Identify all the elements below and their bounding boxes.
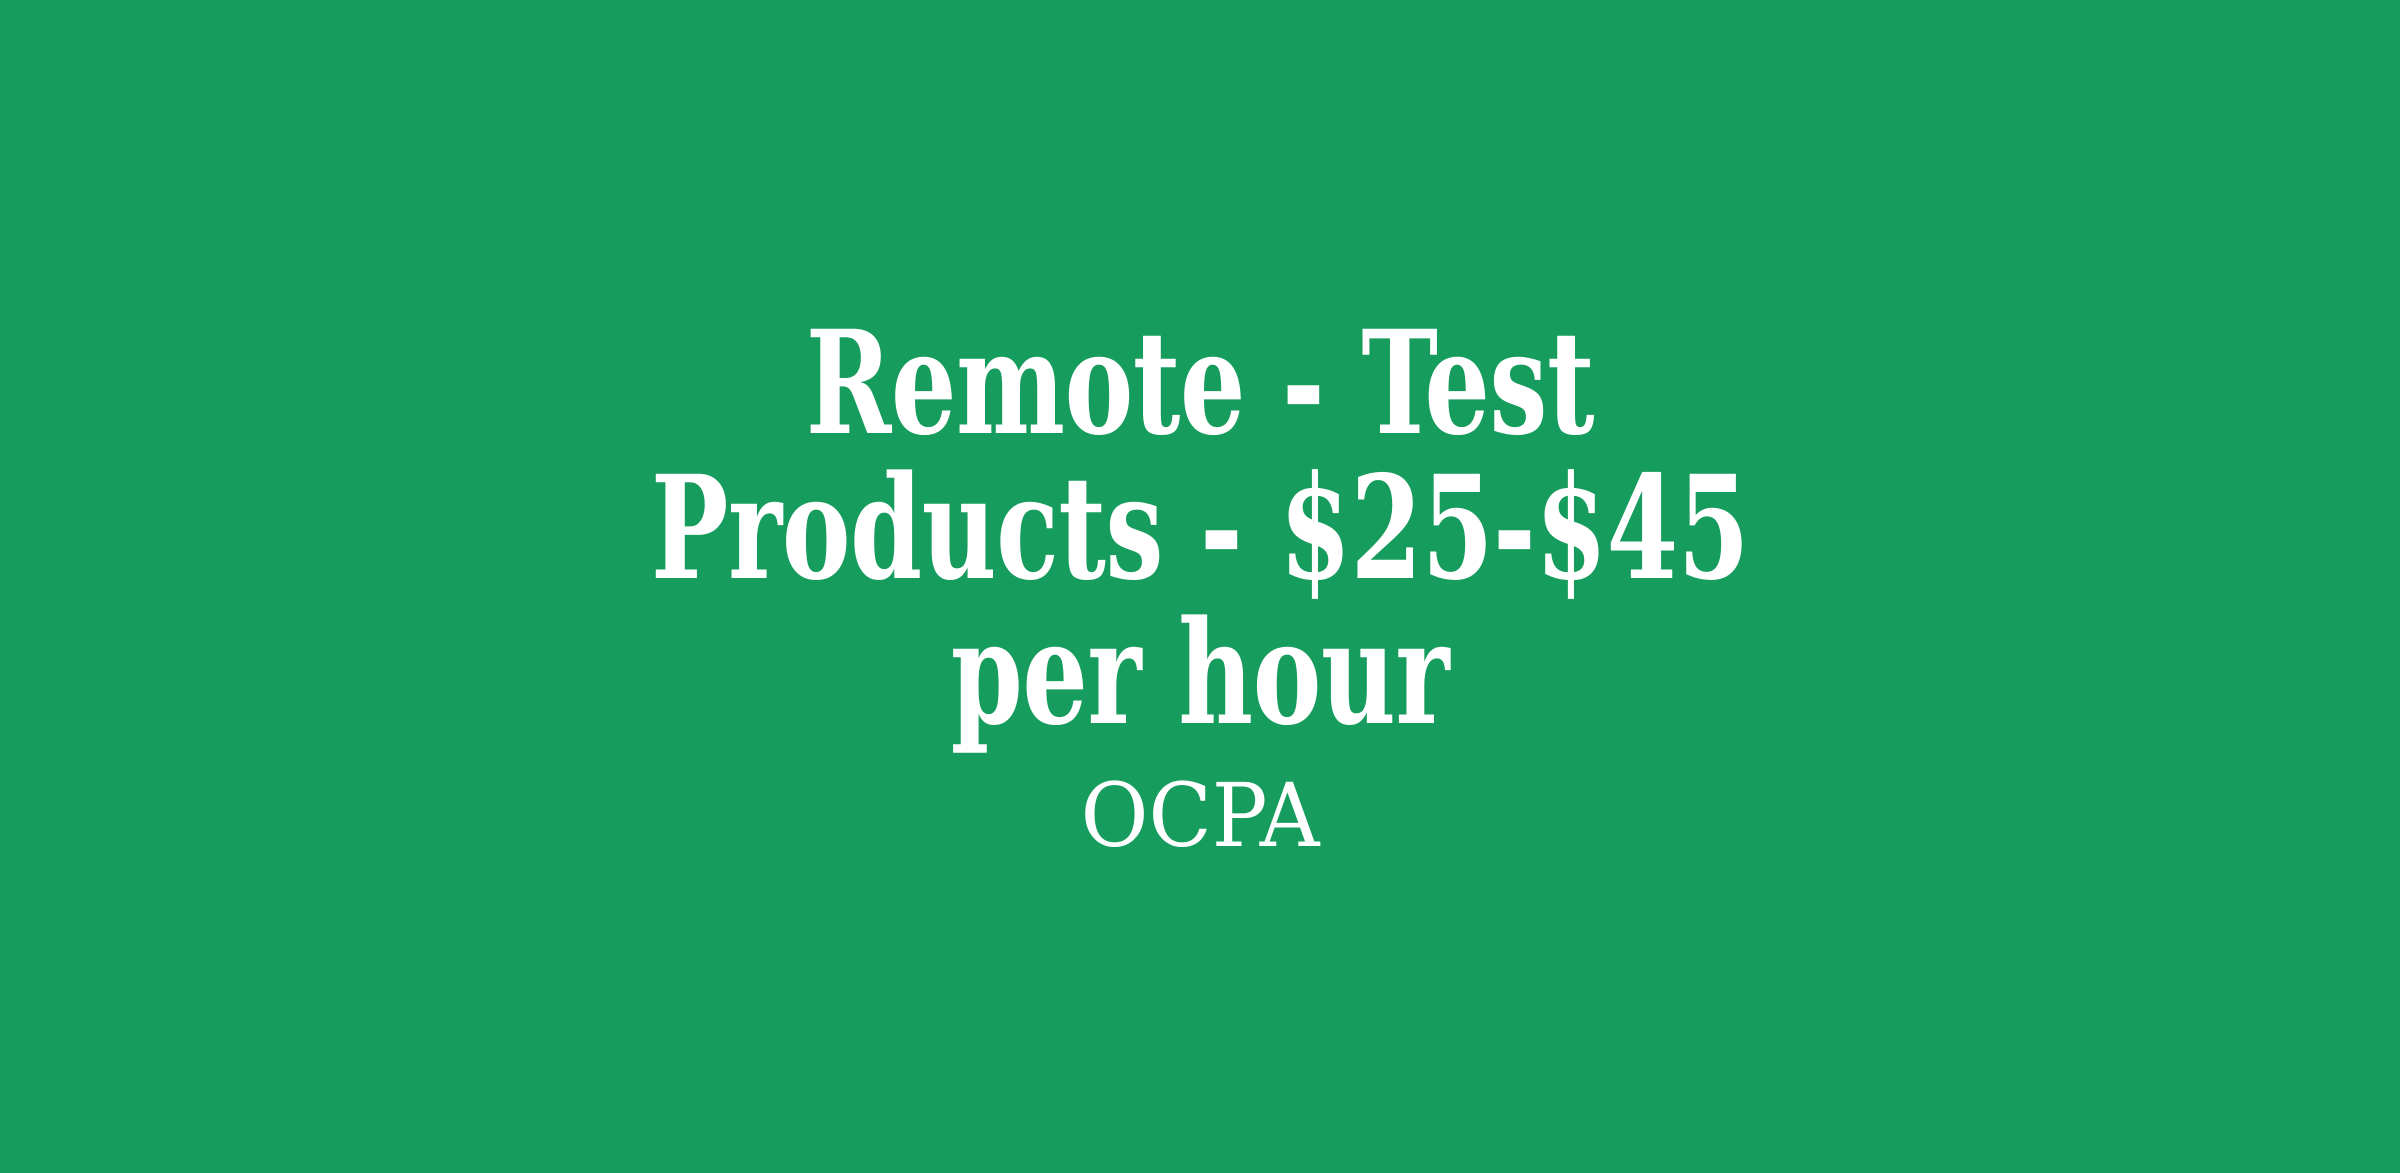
job-listing-card: Remote - Test Products - $25-$45 per hou… (0, 0, 2400, 1173)
card-text-block: Remote - Test Products - $25-$45 per hou… (0, 0, 2400, 1173)
organization-subtitle: OCPA (1081, 770, 1320, 862)
page-title: Remote - Test Products - $25-$45 per hou… (576, 311, 1824, 746)
